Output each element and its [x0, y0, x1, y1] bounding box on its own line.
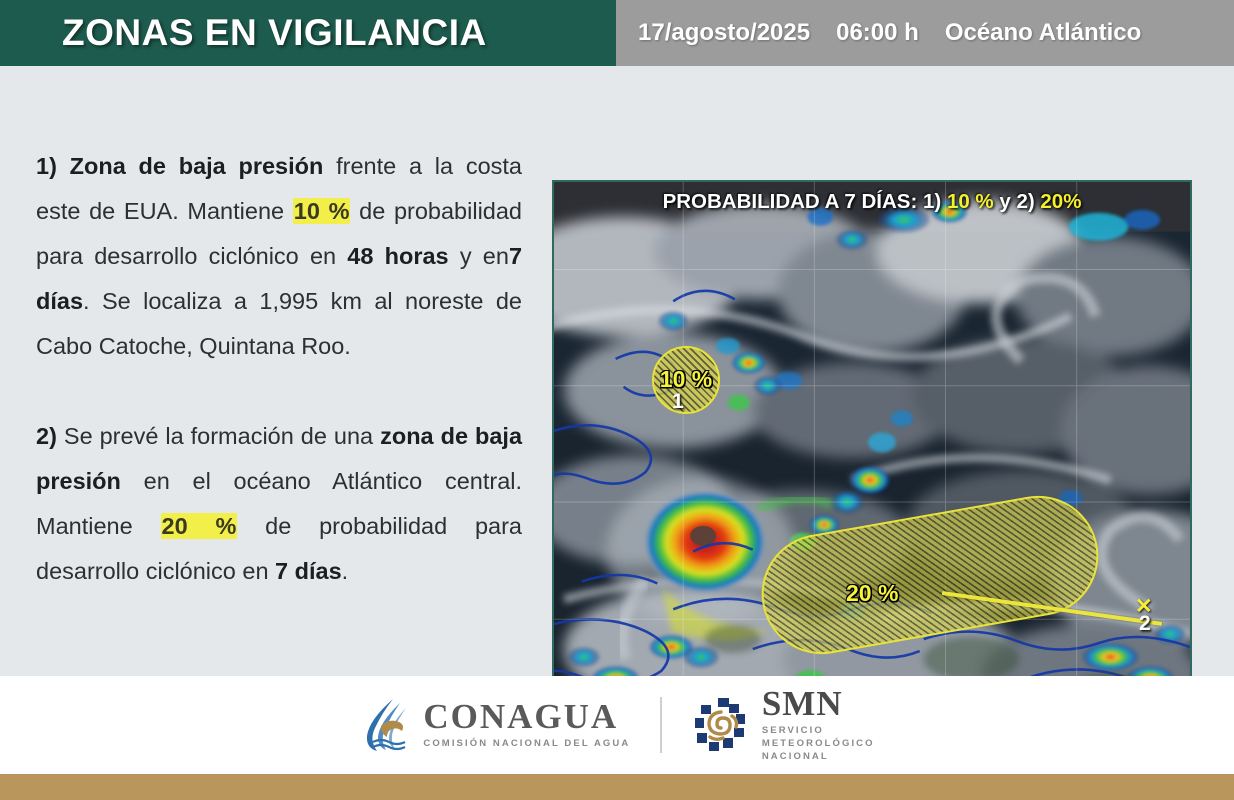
text-column: 1) Zona de baja presión frente a la cost… [36, 144, 522, 594]
smn-subtitle-line3: NACIONAL [762, 751, 875, 764]
header-title-band: ZONAS EN VIGILANCIA [0, 0, 616, 66]
smn-name: SMN [762, 686, 875, 721]
zone-1-number-label: 1 [672, 390, 684, 414]
paragraph-1: 1) Zona de baja presión frente a la cost… [36, 144, 522, 369]
bulletin-date: 17/agosto/2025 [638, 19, 810, 47]
satellite-map[interactable]: PROBABILIDAD A 7 DÍAS: 1) 10 % y 2) 20% … [552, 180, 1192, 714]
smn-spiral-icon [692, 696, 750, 754]
zone-2-number-label: 2 [1139, 612, 1151, 636]
conagua-water-drop-icon [359, 696, 411, 754]
conagua-text: CONAGUA COMISIÓN NACIONAL DEL AGUA [423, 699, 630, 751]
smn-logo: SMN SERVICIO METEOROLÓGICO NACIONAL [692, 686, 875, 763]
p2-bold-7d: 7 días [275, 558, 342, 584]
zone-1-probability-label: 10 % [650, 366, 722, 393]
conagua-logo: CONAGUA COMISIÓN NACIONAL DEL AGUA [359, 696, 630, 754]
p2-text-a: Se prevé la formación de una [64, 423, 373, 449]
bulletin-time: 06:00 h [836, 19, 919, 47]
map-caption: PROBABILIDAD A 7 DÍAS: 1) 10 % y 2) 20% [554, 190, 1190, 214]
page-title: ZONAS EN VIGILANCIA [62, 12, 487, 54]
smn-text: SMN SERVICIO METEOROLÓGICO NACIONAL [762, 686, 875, 763]
p2-text-d: . [342, 558, 349, 584]
zone-2-probability-label: 20 % [846, 580, 898, 607]
smn-subtitle-line1: SERVICIO [762, 725, 875, 738]
body-panel: 1) Zona de baja presión frente a la cost… [0, 66, 1234, 676]
page-header: ZONAS EN VIGILANCIA 17/agosto/2025 06:00… [0, 0, 1234, 66]
caption-prefix: PROBABILIDAD A 7 DÍAS: 1) [663, 190, 942, 213]
conagua-subtitle: COMISIÓN NACIONAL DEL AGUA [423, 738, 630, 751]
header-meta-band: 17/agosto/2025 06:00 h Océano Atlántico [616, 0, 1234, 66]
conagua-name: CONAGUA [423, 699, 630, 734]
caption-pct-1: 10 % [947, 190, 994, 213]
p1-bold-lead: Zona de baja presión [70, 153, 324, 179]
paragraph-2: 2) Se prevé la formación de una zona de … [36, 414, 522, 594]
bottom-accent-bar [0, 774, 1234, 800]
smn-subtitle: SERVICIO METEOROLÓGICO NACIONAL [762, 725, 875, 763]
bulletin-region: Océano Atlántico [945, 19, 1141, 47]
p1-bold-48h: 48 horas [347, 243, 448, 269]
p2-highlight-20: 20 % [161, 513, 238, 539]
caption-pct-2: 20% [1040, 190, 1081, 213]
p1-text-d: . Se localiza a 1,995 km al noreste de C… [36, 288, 522, 359]
page-footer: CONAGUA COMISIÓN NACIONAL DEL AGUA [0, 676, 1234, 774]
caption-mid: y 2) [999, 190, 1034, 213]
p2-marker: 2) [36, 423, 57, 449]
smn-subtitle-line2: METEOROLÓGICO [762, 738, 875, 751]
logo-divider [660, 697, 662, 753]
p1-marker: 1) [36, 153, 57, 179]
p1-highlight-10: 10 % [293, 198, 351, 224]
p1-text-c: y en [460, 243, 509, 269]
